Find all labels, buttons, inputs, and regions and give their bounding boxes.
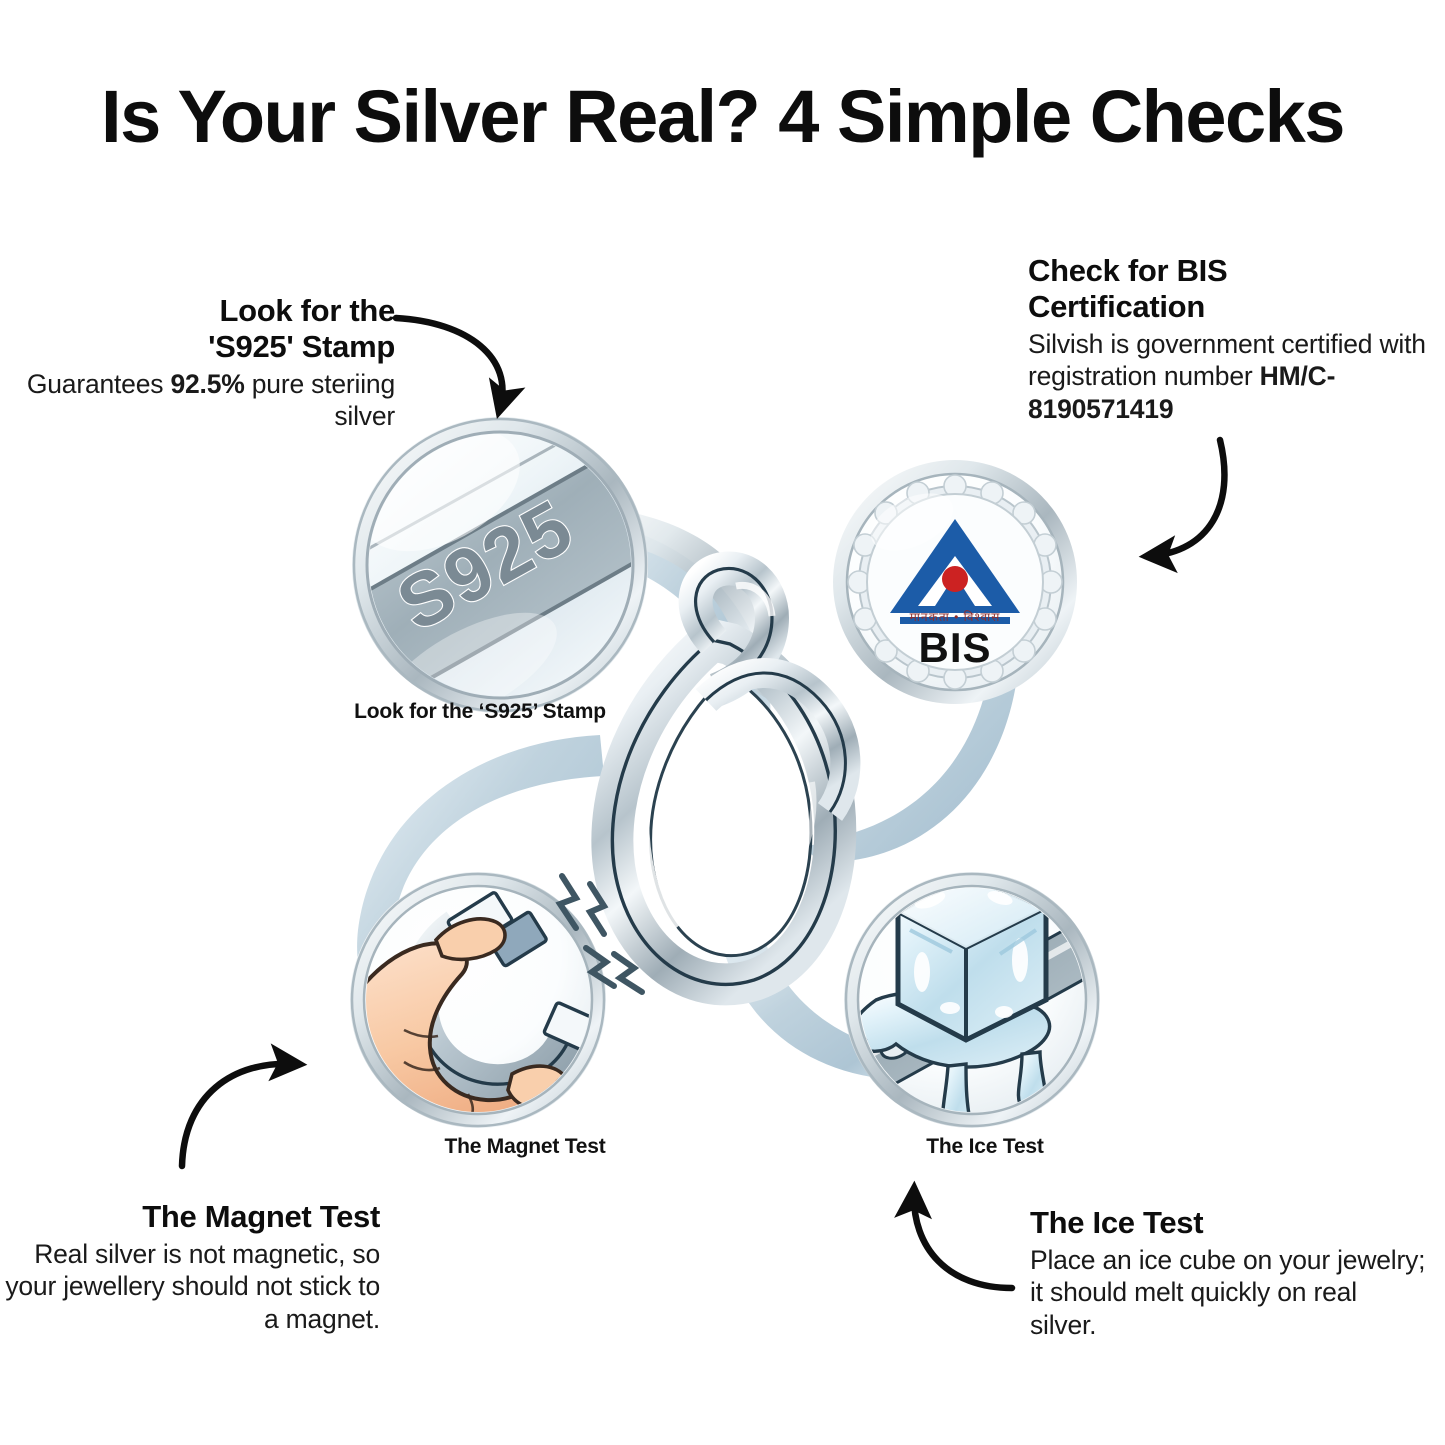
callout-magnet-heading: The Magnet Test [0,1199,380,1235]
bis-hindi-text: मानकता • विश्वास [910,610,1001,624]
icon-bis-badge: मानकता • विश्वास BIS [833,460,1077,704]
icon-ice-test [840,872,1126,1141]
callout-s925-heading: Look for the 'S925' Stamp [25,293,395,365]
callout-bis-certification: Check for BIS Certification Silvish is g… [1028,253,1445,425]
caption-s925-stamp: Look for the ‘S925’ Stamp [270,700,690,724]
callout-magnet-test: The Magnet Test Real silver is not magne… [0,1199,380,1335]
callout-s925-body: Guarantees 92.5% pure steriing silver [25,368,395,433]
callout-s925-stamp: Look for the 'S925' Stamp Guarantees 92.… [25,293,395,433]
callout-bis-heading: Check for BIS Certification [1028,253,1445,325]
arrow-to-ice [914,1192,1012,1288]
page-title: Is Your Silver Real? 4 Simple Checks [0,78,1445,156]
callout-ice-body: Place an ice cube on your jewelry; it sh… [1030,1244,1430,1341]
icon-silver-ring [612,568,845,984]
callout-ice-test: The Ice Test Place an ice cube on your j… [1030,1205,1430,1341]
callout-ice-heading: The Ice Test [1030,1205,1430,1241]
arrow-to-bis [1150,440,1224,556]
caption-ice-test: The Ice Test [840,1135,1130,1159]
arrow-to-stamp [396,318,503,408]
callout-magnet-body: Real silver is not magnetic, so your jew… [0,1238,380,1335]
arrow-to-magnet [182,1064,296,1166]
callout-bis-body: Silvish is government certified with reg… [1028,328,1445,425]
infographic-canvas: S925 [0,0,1445,1445]
caption-magnet-test: The Magnet Test [360,1135,690,1159]
bis-label-text: BIS [918,624,991,671]
